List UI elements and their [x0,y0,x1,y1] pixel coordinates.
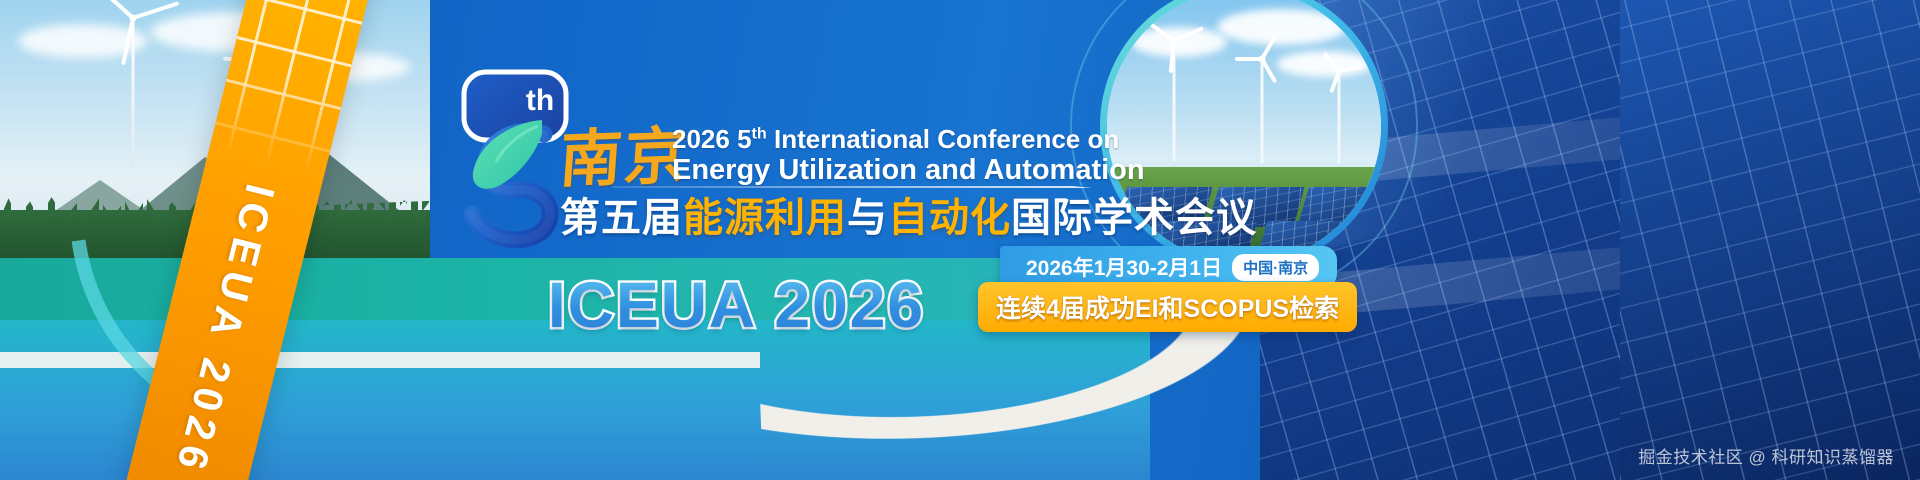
conference-date: 2026年1月30-2月1日 [1026,252,1222,282]
chinese-title: 第五届能源利用与自动化国际学术会议 [560,196,1257,240]
chinese-title-part: 自动化 [888,196,1011,240]
wind-turbine-icon [88,18,178,168]
wind-turbine-icon [1239,59,1285,163]
acronym-year-fill: ICEUA 2026 [548,268,925,342]
indexing-badge: 连续4届成功EI和SCOPUS检索 [978,282,1357,332]
city-calligraphy: 南京 [558,126,691,192]
english-title-line1-pre: 2026 5 [672,124,752,154]
title-divider-rule [612,186,1092,188]
wind-turbine-icon [1319,71,1359,163]
chinese-title-part: 能源利用 [683,196,847,240]
solar-panel-slab-right [1620,0,1920,480]
indexing-badge-label: 连续4届成功EI和SCOPUS检索 [996,289,1339,325]
chinese-title-part: 第五届 [560,196,683,240]
city-badge: 中国·南京 [1232,254,1319,281]
svg-text:th: th [526,84,554,117]
conference-banner: ICEUA 2026 th [0,0,1920,480]
english-title-line1: 2026 5th International Conference on [672,124,1092,154]
watermark: 掘金技术社区 @ 科研知识蒸馏器 [1638,443,1894,468]
wind-turbine-icon [1147,41,1201,161]
english-title-line2: Energy Utilization and Automation [672,154,1092,188]
english-title-ordinal: th [752,124,767,142]
english-title-block: 2026 5th International Conference on Ene… [672,124,1092,188]
english-title-line1-post: International Conference on [767,124,1120,154]
cloud-icon [1217,9,1347,45]
chinese-title-part: 国际学术会议 [1011,196,1257,240]
chinese-title-part: 与 [847,196,888,240]
